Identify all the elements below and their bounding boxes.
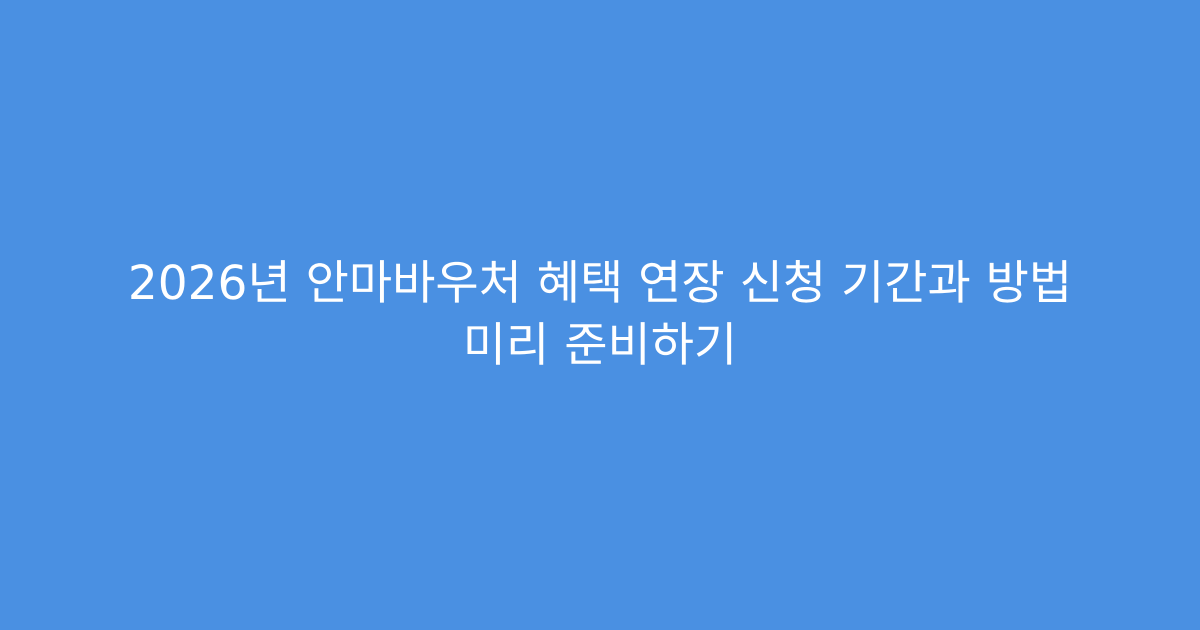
- title-block: 2026년 안마바우처 혜택 연장 신청 기간과 방법 미리 준비하기: [0, 253, 1200, 377]
- thumbnail-card: 2026년 안마바우처 혜택 연장 신청 기간과 방법 미리 준비하기: [0, 0, 1200, 630]
- page-title: 2026년 안마바우처 혜택 연장 신청 기간과 방법 미리 준비하기: [40, 253, 1160, 377]
